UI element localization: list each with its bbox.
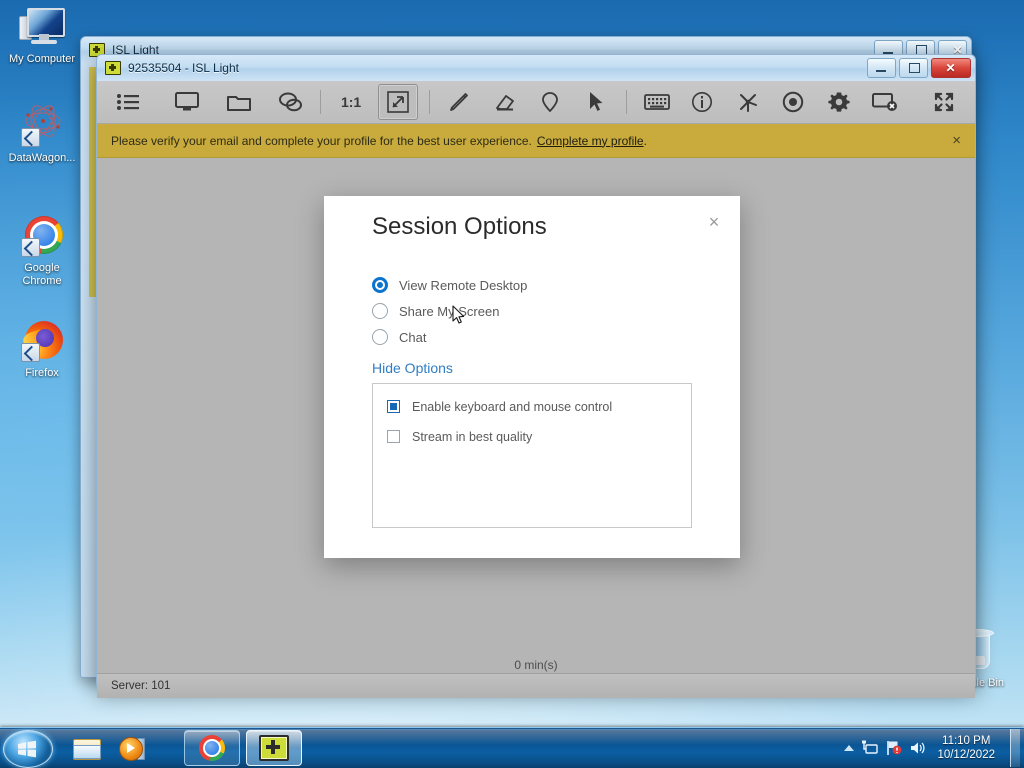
session-list-icon[interactable] — [109, 85, 147, 119]
system-tray[interactable]: 11:10 PM 10/12/2022 — [844, 728, 1020, 768]
toolbar-separator — [626, 90, 627, 114]
session-options-dialog[interactable]: Session Options × View Remote Desktop Sh… — [324, 196, 740, 558]
taskbar-chrome[interactable] — [184, 730, 240, 766]
toolbar-separator — [429, 90, 430, 114]
toolbar-separator — [320, 90, 321, 114]
shortcut-arrow-icon — [21, 343, 40, 362]
record-icon[interactable] — [775, 85, 813, 119]
fullscreen-icon[interactable] — [925, 85, 963, 119]
windows-logo-icon — [17, 740, 37, 758]
checkbox-label: Stream in best quality — [412, 430, 532, 444]
scale-1to1-button[interactable]: 1:1 — [332, 85, 370, 119]
radio-label: View Remote Desktop — [399, 278, 527, 293]
show-hidden-icons-button[interactable] — [844, 745, 854, 751]
desktop-icon-google-chrome[interactable]: Google Chrome — [2, 215, 82, 288]
isl-light-icon — [105, 61, 121, 75]
checkbox-label: Enable keyboard and mouse control — [412, 400, 612, 414]
monitor-icon[interactable] — [169, 85, 207, 119]
network-icon[interactable] — [861, 740, 878, 756]
desktop-icon-label-line2: Chrome — [2, 275, 82, 288]
status-bar: Server: 101 — [97, 673, 975, 698]
window-title: 92535504 - ISL Light — [128, 61, 239, 75]
radio-indicator[interactable] — [372, 303, 388, 319]
start-button[interactable] — [3, 730, 53, 768]
dialog-title: Session Options — [372, 213, 547, 241]
isl-light-icon — [259, 735, 289, 761]
notification-text: Please verify your email and complete yo… — [111, 134, 532, 148]
checkbox-stream-in-best-quality[interactable]: Stream in best quality — [387, 426, 691, 447]
checkbox-indicator[interactable] — [387, 400, 400, 413]
shortcut-arrow-icon — [21, 128, 40, 147]
desktop-icon-label: My Computer — [2, 53, 82, 66]
desktop-icon-label-line1: Google — [2, 262, 82, 275]
action-center-icon[interactable] — [885, 740, 902, 756]
maximize-button[interactable] — [899, 58, 928, 78]
desktop-icon-datawagon[interactable]: DataWagon... — [2, 105, 82, 165]
windows-media-player-icon[interactable] — [110, 732, 154, 764]
minimize-button[interactable] — [867, 58, 896, 78]
keyboard-icon[interactable] — [638, 85, 676, 119]
eraser-icon[interactable] — [486, 85, 524, 119]
taskbar-tasks[interactable] — [184, 732, 302, 764]
notification-bar[interactable]: Please verify your email and complete yo… — [97, 124, 975, 158]
dialog-close-icon[interactable]: × — [704, 212, 724, 232]
taskbar[interactable]: 11:10 PM 10/12/2022 — [0, 727, 1024, 768]
fit-to-window-button[interactable] — [378, 84, 418, 120]
session-mode-radio-group[interactable]: View Remote Desktop Share My Screen Chat — [372, 272, 527, 350]
info-icon[interactable] — [683, 85, 721, 119]
desktop-icon-label: DataWagon... — [2, 152, 82, 165]
radio-label: Chat — [399, 330, 426, 345]
advanced-options-box: Enable keyboard and mouse control Stream… — [372, 383, 692, 528]
pencil-icon[interactable] — [440, 85, 478, 119]
close-button[interactable]: ✕ — [931, 58, 971, 78]
radio-option-chat[interactable]: Chat — [372, 324, 527, 350]
shortcut-arrow-icon — [21, 238, 40, 257]
radio-option-view-remote-desktop[interactable]: View Remote Desktop — [372, 272, 527, 298]
session-duration-text: 0 min(s) — [97, 658, 975, 672]
location-marker-icon[interactable] — [532, 85, 570, 119]
mouse-cursor — [452, 305, 465, 325]
cursor-arrow-icon[interactable] — [577, 85, 615, 119]
notification-close-icon[interactable]: × — [952, 133, 961, 148]
windows-explorer-icon[interactable] — [64, 732, 108, 764]
tools-icon[interactable] — [729, 85, 767, 119]
firefox-icon — [19, 320, 65, 364]
window-controls: ✕ — [867, 58, 971, 78]
radio-indicator[interactable] — [372, 277, 388, 293]
chrome-icon — [19, 215, 65, 259]
checkbox-indicator[interactable] — [387, 430, 400, 443]
taskbar-clock[interactable]: 11:10 PM 10/12/2022 — [933, 734, 1001, 762]
complete-my-profile-link[interactable]: Complete my profile — [537, 134, 644, 148]
datawagon-icon — [19, 105, 65, 149]
window-titlebar[interactable]: 92535504 - ISL Light ✕ — [97, 55, 975, 81]
clock-time: 11:10 PM — [937, 734, 995, 748]
quick-launch-bar[interactable] — [64, 732, 154, 764]
checkbox-enable-keyboard-and-mouse-control[interactable]: Enable keyboard and mouse control — [387, 396, 691, 417]
radio-option-share-my-screen[interactable]: Share My Screen — [372, 298, 527, 324]
chat-icon[interactable] — [272, 85, 310, 119]
clock-date: 10/12/2022 — [937, 748, 995, 762]
desktop-icon-my-computer[interactable]: My Computer — [2, 6, 82, 66]
radio-label: Share My Screen — [399, 304, 499, 319]
status-bar-server: Server: 101 — [111, 680, 170, 692]
gear-icon[interactable] — [820, 85, 858, 119]
my-computer-icon — [19, 6, 65, 50]
volume-icon[interactable] — [909, 740, 926, 756]
toolbar[interactable]: 1:1 — [97, 81, 975, 124]
radio-indicator[interactable] — [372, 329, 388, 345]
desktop-icon-label: Firefox — [2, 367, 82, 380]
hide-options-link[interactable]: Hide Options — [372, 360, 453, 376]
folder-icon[interactable] — [220, 85, 258, 119]
taskbar-isl-light[interactable] — [246, 730, 302, 766]
disconnect-screen-icon[interactable] — [866, 85, 904, 119]
notification-period: . — [644, 134, 647, 148]
desktop-icon-firefox[interactable]: Firefox — [2, 320, 82, 380]
show-desktop-button[interactable] — [1010, 729, 1020, 767]
